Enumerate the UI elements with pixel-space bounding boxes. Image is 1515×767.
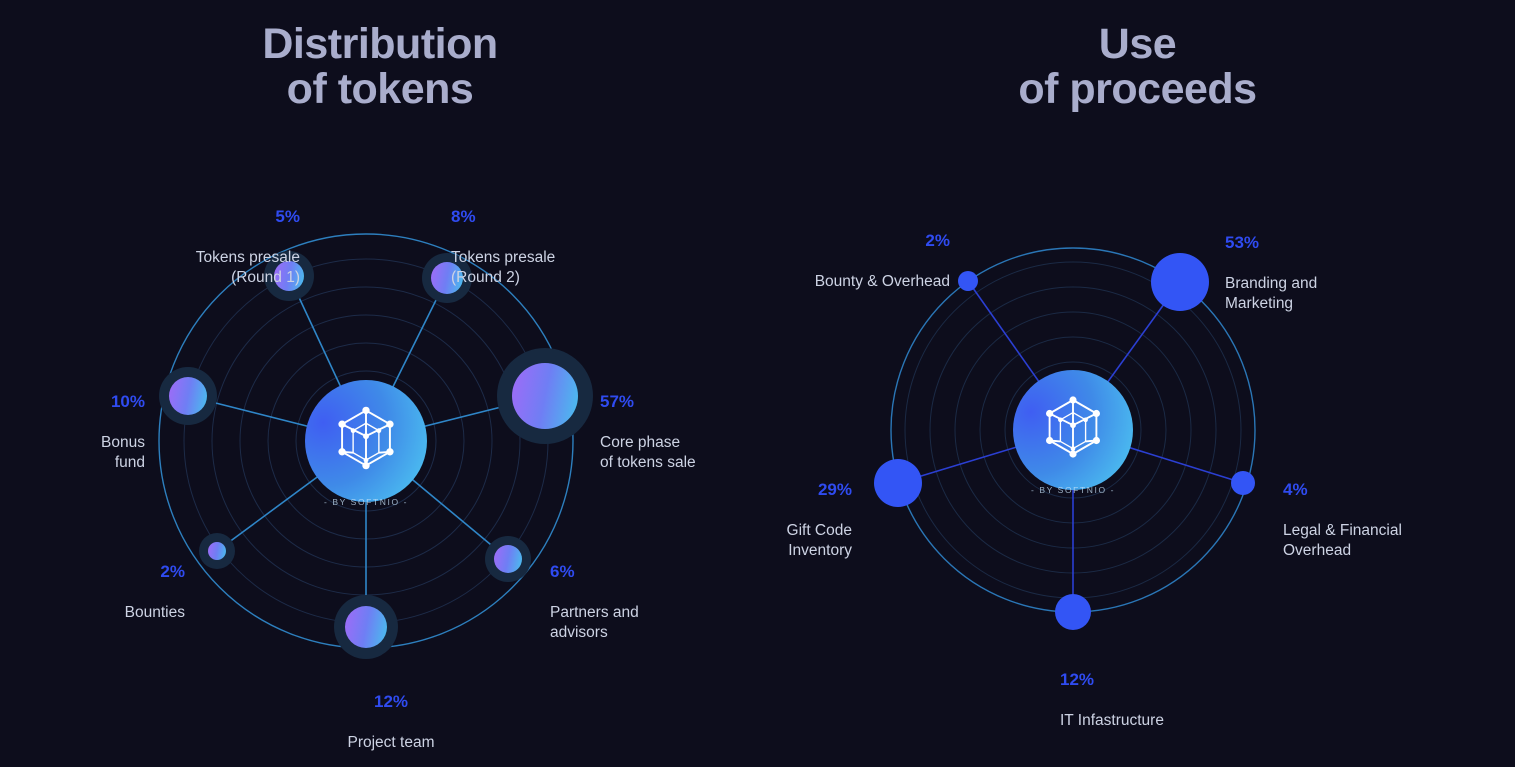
label-name: Branding and Marketing xyxy=(1225,275,1317,312)
label-name: Gift Code Inventory xyxy=(787,522,852,559)
label-pct: 8% xyxy=(451,206,651,228)
label-legal-financial-overhead: 4% Legal & Financial Overhead xyxy=(1283,459,1498,560)
label-tokens-presale-round2: 8% Tokens presale (Round 2) xyxy=(451,186,651,287)
token-distribution-diagram: - BY SOFTNIO - xyxy=(125,235,615,705)
label-name: Bonus fund xyxy=(101,434,145,471)
label-bounty-overhead: 2% Bounty & Overhead xyxy=(750,210,950,292)
label-pct: 12% xyxy=(291,691,491,713)
label-pct: 5% xyxy=(100,206,300,228)
title-line-2: of tokens xyxy=(0,67,760,112)
node-bounty-overhead[interactable] xyxy=(958,271,978,291)
panel-use-of-proceeds: Use of proceeds xyxy=(760,0,1515,767)
label-core-phase: 57% Core phase of tokens sale xyxy=(600,371,780,472)
panel-distribution-of-tokens: Distribution of tokens xyxy=(0,0,760,767)
node-legal-financial-overhead[interactable] xyxy=(1231,471,1255,495)
label-it-infrastructure: 12% IT Infastructure xyxy=(1060,649,1280,731)
label-pct: 57% xyxy=(600,391,780,413)
label-pct: 2% xyxy=(35,561,185,583)
hub-brand-left: - BY SOFTNIO - xyxy=(324,497,408,507)
label-pct: 53% xyxy=(1225,232,1425,254)
label-pct: 6% xyxy=(550,561,730,583)
node-branding-marketing[interactable] xyxy=(1151,253,1209,311)
label-name: IT Infastructure xyxy=(1060,712,1164,729)
node-partners-advisors[interactable] xyxy=(494,545,522,573)
label-bounties: 2% Bounties xyxy=(35,541,185,623)
label-project-team: 12% Project team xyxy=(291,671,491,753)
label-gift-code-inventory: 29% Gift Code Inventory xyxy=(752,459,852,560)
node-bonus-fund[interactable] xyxy=(169,377,207,415)
label-partners-advisors: 6% Partners and advisors xyxy=(550,541,730,642)
node-bounties[interactable] xyxy=(208,542,226,560)
page-title-left: Distribution of tokens xyxy=(0,22,760,112)
node-it-infrastructure[interactable] xyxy=(1055,594,1091,630)
node-core-phase[interactable] xyxy=(512,363,578,429)
label-branding-marketing: 53% Branding and Marketing xyxy=(1225,212,1425,313)
label-name: Tokens presale (Round 1) xyxy=(196,249,300,286)
node-gift-code-inventory[interactable] xyxy=(874,459,922,507)
label-pct: 2% xyxy=(750,230,950,252)
label-name: Core phase of tokens sale xyxy=(600,434,696,471)
label-name: Bounty & Overhead xyxy=(815,273,950,290)
label-name: Tokens presale (Round 2) xyxy=(451,249,555,286)
label-pct: 10% xyxy=(25,391,145,413)
title-line-1: Use xyxy=(1099,20,1176,68)
label-pct: 4% xyxy=(1283,479,1498,501)
label-pct: 29% xyxy=(752,479,852,501)
title-line-1: Distribution xyxy=(262,20,497,68)
label-bonus-fund: 10% Bonus fund xyxy=(25,371,145,472)
label-pct: 12% xyxy=(1060,669,1280,691)
label-name: Project team xyxy=(347,734,434,751)
hub-brand-right: - BY SOFTNIO - xyxy=(1031,485,1115,495)
label-name: Partners and advisors xyxy=(550,604,639,641)
label-name: Legal & Financial Overhead xyxy=(1283,522,1402,559)
radial-node-chart-left: - BY SOFTNIO - xyxy=(125,235,615,705)
title-line-2: of proceeds xyxy=(760,67,1515,112)
page-title-right: Use of proceeds xyxy=(760,22,1515,112)
label-name: Bounties xyxy=(125,604,185,621)
node-project-team[interactable] xyxy=(345,606,387,648)
infographic-page: Distribution of tokens xyxy=(0,0,1515,767)
label-tokens-presale-round1: 5% Tokens presale (Round 1) xyxy=(100,186,300,287)
